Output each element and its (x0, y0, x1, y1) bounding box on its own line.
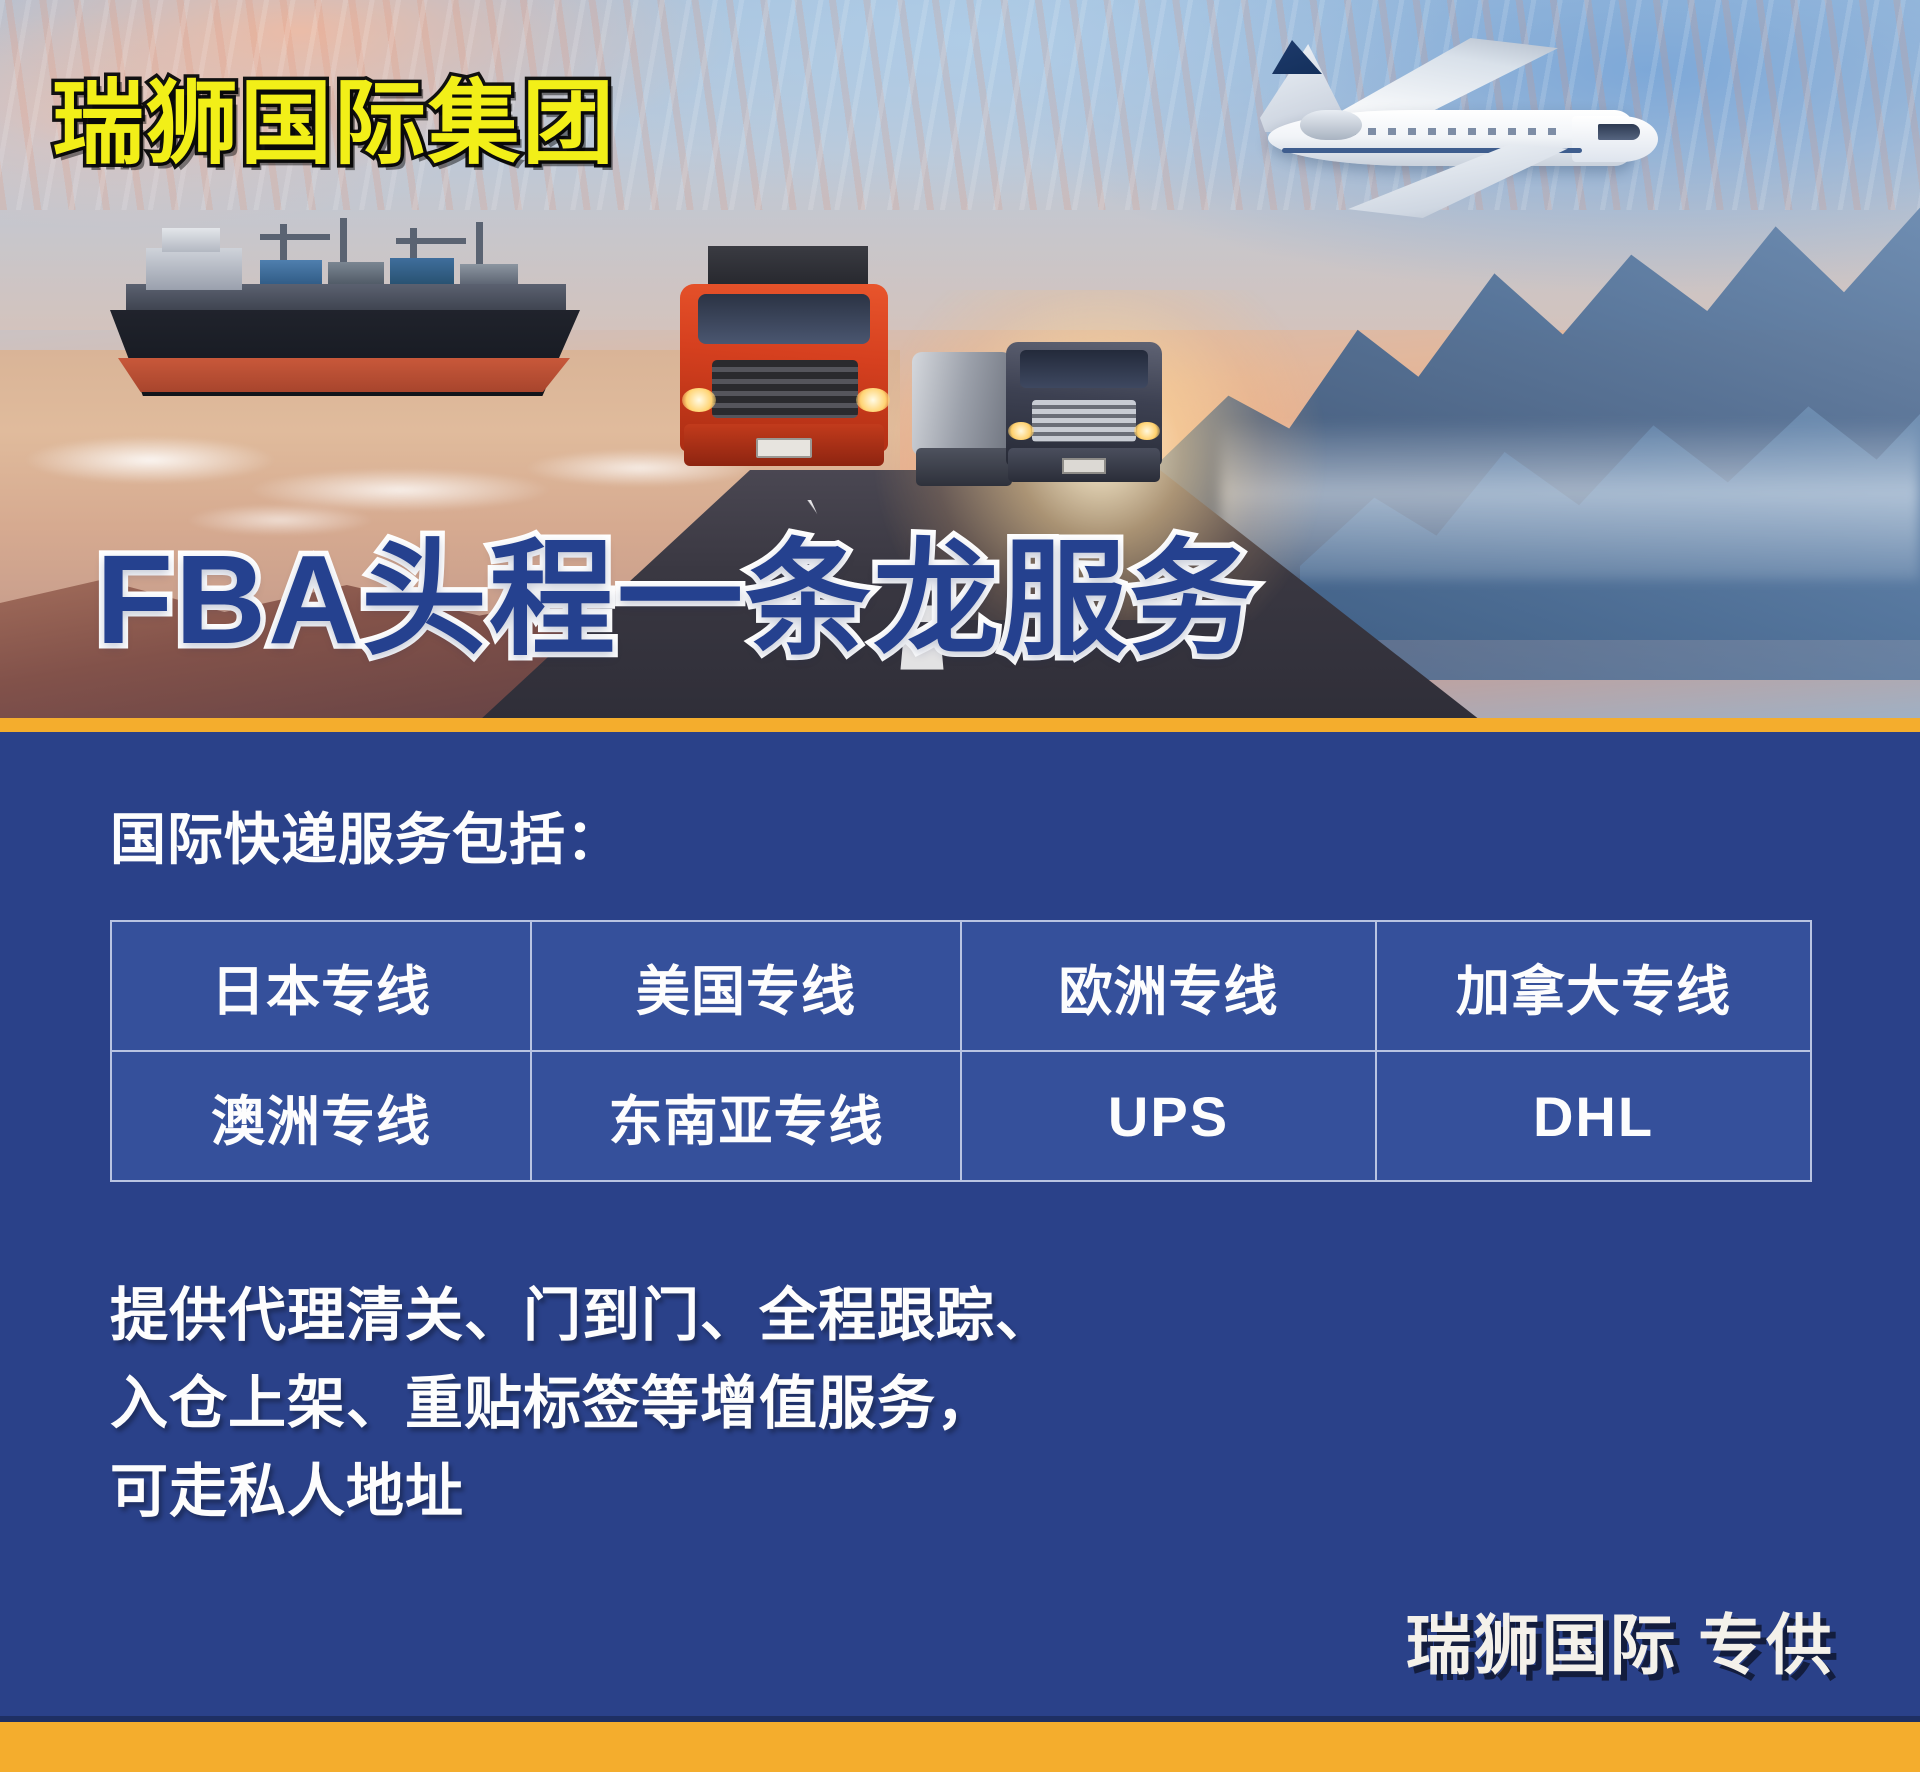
hero-photo-banner: 瑞狮国际集团 FBA头程一条龙服务 (0, 0, 1920, 718)
company-logo-text: 瑞狮国际集团 (52, 78, 616, 170)
table-row: 日本专线 美国专线 欧洲专线 加拿大专线 (111, 921, 1811, 1051)
page-title: FBA头程一条龙服务 (96, 537, 1257, 663)
dark-truck-icon (1000, 330, 1168, 520)
airplane-icon (1242, 36, 1662, 226)
table-cell-sea-line[interactable]: 东南亚专线 (531, 1051, 961, 1181)
paragraph-line-3: 可走私人地址 (110, 1448, 1054, 1536)
orange-divider (0, 718, 1920, 732)
service-lines-table: 日本专线 美国专线 欧洲专线 加拿大专线 澳洲专线 东南亚专线 UPS DHL (110, 920, 1812, 1182)
footer-orange-bar (0, 1722, 1920, 1772)
red-truck-icon (672, 268, 900, 508)
table-cell-australia-line[interactable]: 澳洲专线 (111, 1051, 531, 1181)
value-added-services-paragraph: 提供代理清关、门到门、全程跟踪、 入仓上架、重贴标签等增值服务， 可走私人地址 (110, 1272, 1054, 1536)
table-cell-europe-line[interactable]: 欧洲专线 (961, 921, 1376, 1051)
table-cell-usa-line[interactable]: 美国专线 (531, 921, 961, 1051)
footer-brand-text: 瑞狮国际 专供 (1406, 1592, 1834, 1688)
cargo-ship-icon (110, 218, 590, 408)
table-cell-dhl[interactable]: DHL (1376, 1051, 1811, 1181)
table-cell-japan-line[interactable]: 日本专线 (111, 921, 531, 1051)
info-panel (0, 732, 1920, 1704)
table-row: 澳洲专线 东南亚专线 UPS DHL (111, 1051, 1811, 1181)
paragraph-line-1: 提供代理清关、门到门、全程跟踪、 (110, 1272, 1054, 1360)
paragraph-line-2: 入仓上架、重贴标签等增值服务， (110, 1360, 1054, 1448)
table-cell-canada-line[interactable]: 加拿大专线 (1376, 921, 1811, 1051)
section-heading: 国际快递服务包括： (110, 795, 623, 876)
poster-root: 瑞狮国际集团 FBA头程一条龙服务 国际快递服务包括： 日本专线 美国专线 欧洲… (0, 0, 1920, 1772)
table-cell-ups[interactable]: UPS (961, 1051, 1376, 1181)
